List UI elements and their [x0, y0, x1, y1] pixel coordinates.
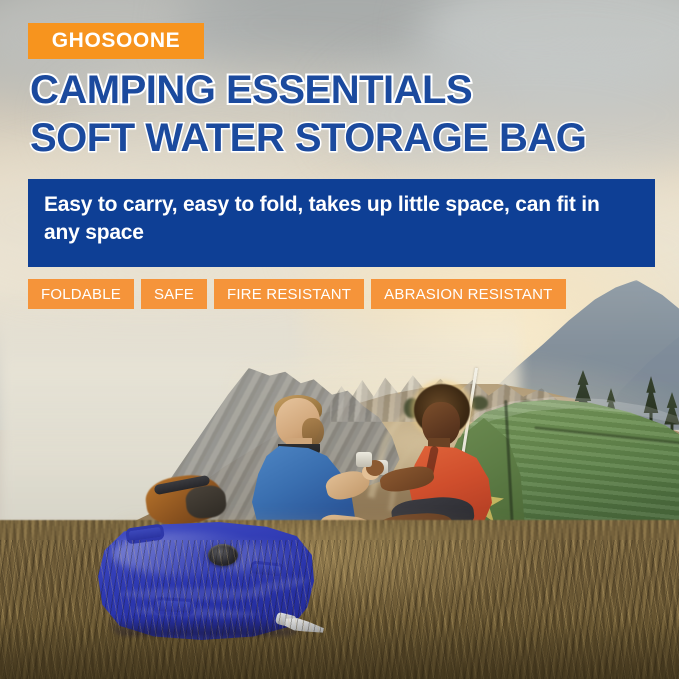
page-title: CAMPING ESSENTIALS SOFT WATER STORAGE BA…	[30, 70, 650, 158]
meadow-shadow	[0, 618, 679, 679]
description-text: Easy to carry, easy to fold, takes up li…	[44, 191, 639, 246]
feature-tag-foldable: FOLDABLE	[28, 279, 134, 309]
brand-name: GHOSOONE	[52, 29, 180, 53]
feature-tag-safe: SAFE	[141, 279, 207, 309]
headline-line-2: SOFT WATER STORAGE BAG	[30, 118, 650, 158]
feature-tag-abrasion-resistant: ABRASION RESISTANT	[371, 279, 565, 309]
product-poster: GHOSOONE CAMPING ESSENTIALS SOFT WATER S…	[0, 0, 679, 679]
brand-badge: GHOSOONE	[28, 23, 204, 59]
headline-line-1: CAMPING ESSENTIALS	[30, 70, 650, 110]
description-panel: Easy to carry, easy to fold, takes up li…	[28, 179, 655, 267]
camp-cup	[356, 452, 372, 467]
feature-tag-list: FOLDABLE SAFE FIRE RESISTANT ABRASION RE…	[28, 279, 566, 309]
feature-tag-fire-resistant: FIRE RESISTANT	[214, 279, 364, 309]
